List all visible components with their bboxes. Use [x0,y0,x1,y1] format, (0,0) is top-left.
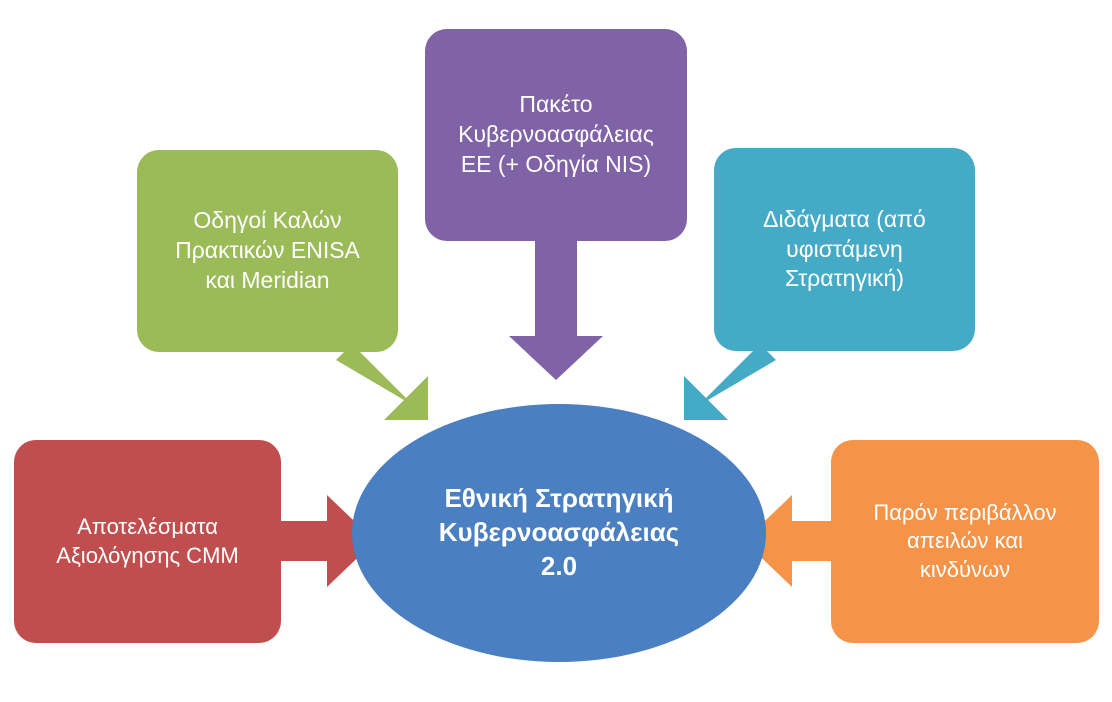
input-node-red-label: Αποτελέσματα Αξιολόγησης CMM [56,513,238,570]
input-node-red[interactable]: Αποτελέσματα Αξιολόγησης CMM [14,440,281,643]
arrow-purple-to-center [495,238,617,380]
input-node-purple[interactable]: Πακέτο Κυβερνοασφάλειας ΕΕ (+ Οδηγία NIS… [425,29,687,241]
input-node-green-label: Οδηγοί Καλών Πρακτικών ENISA και Meridia… [175,206,360,296]
input-node-green[interactable]: Οδηγοί Καλών Πρακτικών ENISA και Meridia… [137,150,398,352]
input-node-orange[interactable]: Παρόν περιβάλλον απειλών και κινδύνων [831,440,1099,643]
input-node-teal-label: Διδάγματα (από υφιστάμενη Στρατηγική) [763,205,926,295]
center-node[interactable]: Εθνική Στρατηγική Κυβερνοασφάλειας 2.0 [352,404,766,662]
input-node-orange-label: Παρόν περιβάλλον απειλών και κινδύνων [873,499,1056,585]
center-node-label: Εθνική Στρατηγική Κυβερνοασφάλειας 2.0 [393,482,725,583]
input-node-teal[interactable]: Διδάγματα (από υφιστάμενη Στρατηγική) [714,148,975,351]
input-node-purple-label: Πακέτο Κυβερνοασφάλειας ΕΕ (+ Οδηγία NIS… [458,90,654,180]
diagram-canvas: Οδηγοί Καλών Πρακτικών ENISA και Meridia… [0,0,1112,702]
